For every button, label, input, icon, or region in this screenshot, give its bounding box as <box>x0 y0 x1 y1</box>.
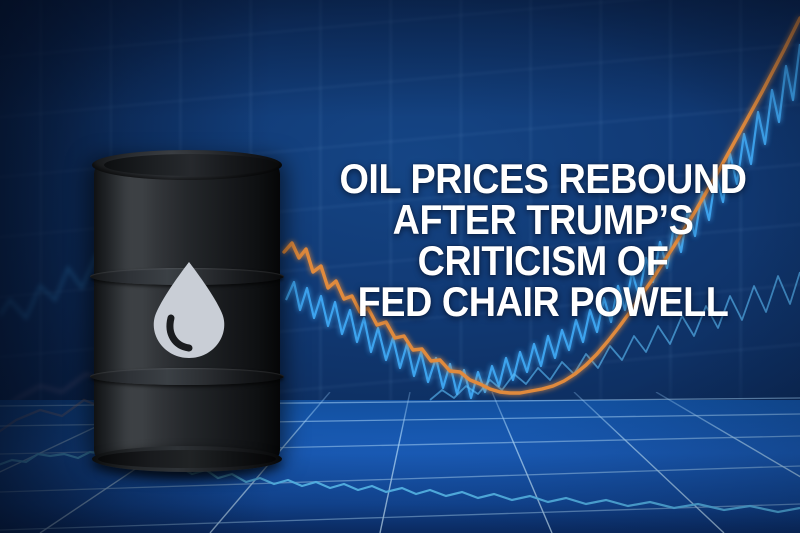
headline-line-4: FED CHAIR POWELL <box>332 281 755 322</box>
oil-barrel <box>88 150 286 475</box>
promo-graphic: OIL PRICES REBOUND AFTER TRUMP’S CRITICI… <box>0 0 800 533</box>
barrel-top-rim <box>92 150 282 180</box>
headline-line-2: AFTER TRUMP’S <box>332 199 755 240</box>
barrel-lid <box>104 154 278 176</box>
headline-line-3: CRITICISM OF <box>332 240 755 281</box>
page-title: OIL PRICES REBOUND AFTER TRUMP’S CRITICI… <box>332 158 755 322</box>
oil-drop-icon <box>147 260 231 364</box>
headline-line-1: OIL PRICES REBOUND <box>332 158 755 199</box>
barrel-rib-lower <box>90 368 284 385</box>
barrel-foot <box>98 450 276 468</box>
